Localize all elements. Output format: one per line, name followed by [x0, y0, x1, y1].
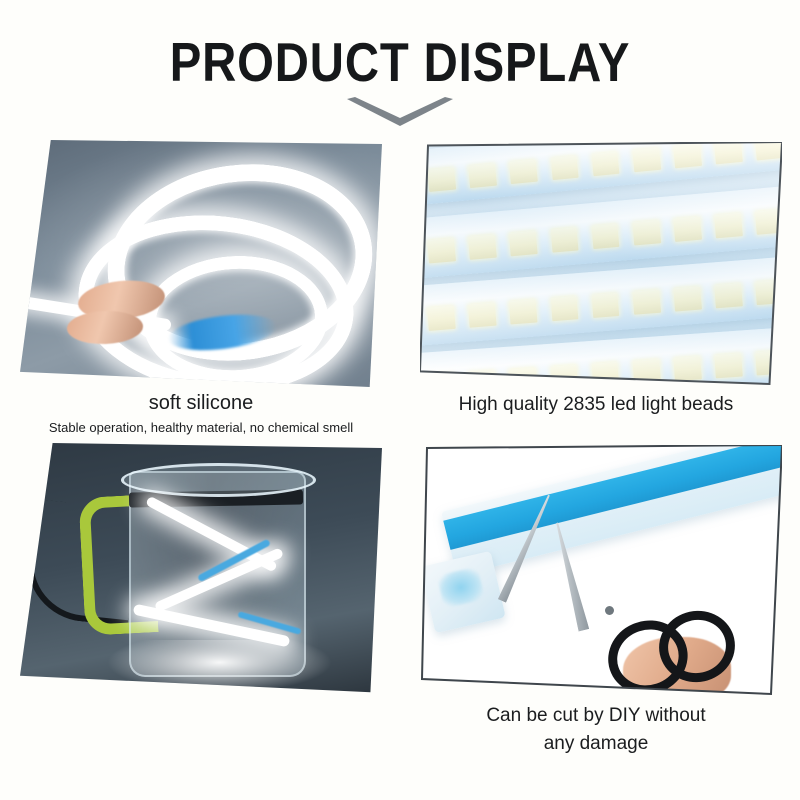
- end-cap-inner-glow: [437, 567, 486, 610]
- subcaption-soft-silicone: Stable operation, healthy material, no c…: [10, 420, 392, 435]
- jar-rim: [121, 463, 315, 497]
- photo-hand-bending-strip: [20, 140, 382, 392]
- led-strip-being-cut: [441, 445, 782, 575]
- photo-led-strip-macro: [420, 142, 782, 390]
- page-title: PRODUCT DISPLAY: [56, 30, 744, 94]
- caption-led-beads: High quality 2835 led light beads: [400, 394, 792, 416]
- panel-image-soft-silicone: [20, 140, 382, 392]
- photo-haze-overlay: [420, 142, 782, 390]
- caption-cuttable: Can be cut by DIY without any damage: [400, 702, 792, 758]
- caption-soft-silicone: soft silicone: [20, 392, 382, 415]
- panel-led-beads[interactable]: [420, 142, 782, 390]
- photo-jar-of-water: [20, 443, 382, 696]
- chevron-down-icon: [347, 97, 453, 127]
- caption-cuttable-line2: any damage: [400, 730, 792, 758]
- led-strip-end-cap: [421, 551, 507, 634]
- photo-scissors-cutting-strip: [420, 445, 782, 697]
- led-bead: [427, 374, 455, 390]
- scissors-pivot-screw: [605, 606, 614, 615]
- led-strip-blue-face: [443, 445, 782, 550]
- panel-soft-silicone[interactable]: [20, 140, 382, 392]
- panel-cuttable[interactable]: [420, 445, 782, 697]
- light-pool-glow: [100, 640, 339, 696]
- panel-image-led-beads: [420, 142, 782, 390]
- panel-image-cuttable: [420, 445, 782, 697]
- caption-cuttable-line1: Can be cut by DIY without: [400, 702, 792, 730]
- panel-waterproof[interactable]: [20, 443, 382, 696]
- panel-image-waterproof: [20, 443, 382, 696]
